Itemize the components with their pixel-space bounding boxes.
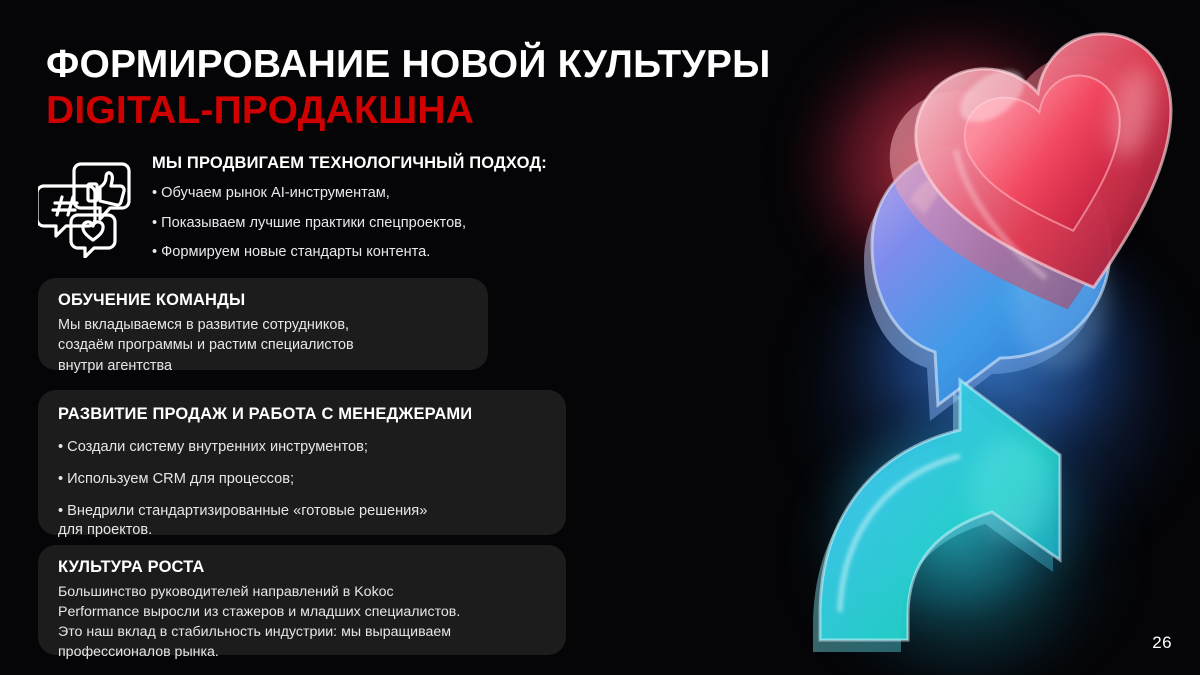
card-culture-line-2: Performance выросли из стажеров и младши…	[58, 602, 546, 622]
card-culture-line-3: Это наш вклад в стабильность индустрии: …	[58, 622, 546, 642]
card-training[interactable]: ОБУЧЕНИЕ КОМАНДЫ Мы вкладываемся в разви…	[38, 278, 488, 370]
card-sales-bullet-1: • Создали систему внутренних инструменто…	[58, 438, 546, 457]
red-glow	[790, 10, 1130, 320]
slide-root: ФОРМИРОВАНИЕ НОВОЙ КУЛЬТУРЫ DIGITAL-ПРОД…	[0, 0, 1200, 675]
card-culture-title: КУЛЬТУРА РОСТА	[58, 558, 546, 577]
title-line-2: DIGITAL-ПРОДАКШНА	[46, 88, 770, 134]
social-chat-bubbles-icon	[38, 158, 134, 258]
card-training-line-2: создаём программы и растим специалистов	[58, 335, 468, 355]
card-sales-bullet-2: • Используем CRM для процессов;	[58, 470, 546, 489]
intro-bullet-2: • Показываем лучшие практики спецпроекто…	[152, 214, 598, 234]
card-sales-title: РАЗВИТИЕ ПРОДАЖ И РАБОТА С МЕНЕДЖЕРАМИ	[58, 405, 546, 424]
artwork-speech-bubble	[864, 140, 1110, 421]
card-sales-bullet-3-continuation: для проектов.	[58, 521, 546, 540]
title-line-1: ФОРМИРОВАНИЕ НОВОЙ КУЛЬТУРЫ	[46, 42, 770, 88]
card-culture-line-1: Большинство руководителей направлений в …	[58, 582, 546, 602]
card-sales-bullet-3: • Внедрили стандартизированные «готовые …	[58, 502, 546, 521]
blue-glow	[800, 210, 1190, 570]
card-culture-line-4: профессионалов рынка.	[58, 642, 546, 662]
card-culture[interactable]: КУЛЬТУРА РОСТА Большинство руководителей…	[38, 545, 566, 655]
card-training-line-3: внутри агентства	[58, 356, 468, 376]
page-number: 26	[1152, 633, 1172, 653]
card-sales[interactable]: РАЗВИТИЕ ПРОДАЖ И РАБОТА С МЕНЕДЖЕРАМИ •…	[38, 390, 566, 535]
intro-bullet-3: • Формируем новые стандарты контента.	[152, 243, 598, 263]
intro-heading: МЫ ПРОДВИГАЕМ ТЕХНОЛОГИЧНЫЙ ПОДХОД:	[152, 154, 598, 173]
artwork-heart	[874, 18, 1200, 346]
card-training-line-1: Мы вкладываемся в развитие сотрудников,	[58, 315, 468, 335]
intro-bullet-1: • Обучаем рынок AI-инструментам,	[152, 184, 598, 204]
intro-section: МЫ ПРОДВИГАЕМ ТЕХНОЛОГИЧНЫЙ ПОДХОД: • Об…	[38, 152, 598, 263]
intro-text: МЫ ПРОДВИГАЕМ ТЕХНОЛОГИЧНЫЙ ПОДХОД: • Об…	[152, 152, 598, 263]
slide-title: ФОРМИРОВАНИЕ НОВОЙ КУЛЬТУРЫ DIGITAL-ПРОД…	[46, 42, 770, 134]
artwork-curved-arrow	[813, 380, 1060, 652]
card-training-title: ОБУЧЕНИЕ КОМАНДЫ	[58, 291, 468, 310]
cyan-glow	[800, 430, 1130, 675]
glass-3d-artwork	[760, 0, 1200, 675]
